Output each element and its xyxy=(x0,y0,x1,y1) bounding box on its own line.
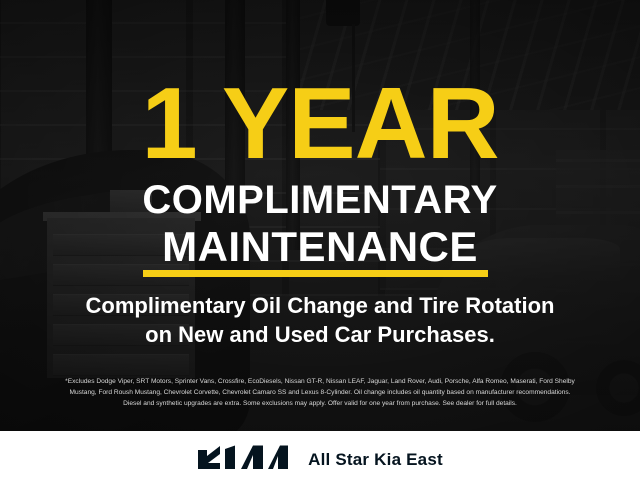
kia-logo-icon xyxy=(197,444,289,475)
accent-divider-rule xyxy=(143,270,488,277)
disclaimer-line-2: Mustang, Ford Roush Mustang, Chevrolet C… xyxy=(14,387,626,398)
headline-maintenance: MAINTENANCE xyxy=(0,226,640,268)
promotional-banner: 1 YEAR COMPLIMENTARY MAINTENANCE Complim… xyxy=(0,0,640,488)
tagline: Complimentary Oil Change and Tire Rotati… xyxy=(20,291,620,349)
tagline-line-1: Complimentary Oil Change and Tire Rotati… xyxy=(20,291,620,320)
disclaimer-line-3: Diesel and synthetic upgrades are extra.… xyxy=(14,398,626,409)
footer-bar: All Star Kia East xyxy=(0,431,640,488)
headline-year: 1 YEAR xyxy=(0,74,640,175)
dealer-name: All Star Kia East xyxy=(308,450,443,470)
disclaimer-text: *Excludes Dodge Viper, SRT Motors, Sprin… xyxy=(14,376,626,409)
headline-complimentary: COMPLIMENTARY xyxy=(0,180,640,220)
disclaimer-line-1: *Excludes Dodge Viper, SRT Motors, Sprin… xyxy=(14,376,626,387)
tagline-line-2: on New and Used Car Purchases. xyxy=(20,320,620,349)
banner-content: 1 YEAR COMPLIMENTARY MAINTENANCE Complim… xyxy=(0,0,640,431)
